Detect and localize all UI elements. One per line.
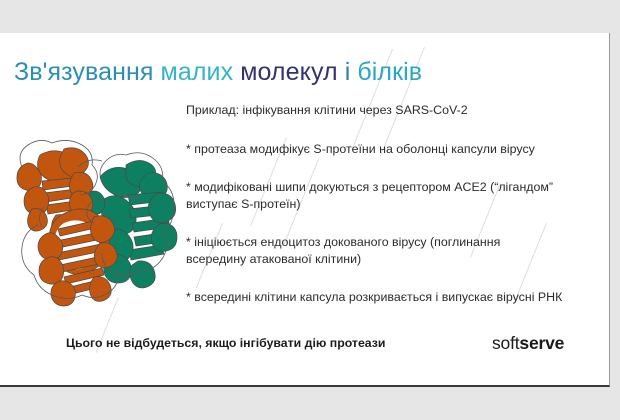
logo-text-soft: soft — [492, 333, 519, 353]
body-line: * протеаза модифікує S-протеїни на оболо… — [186, 141, 596, 158]
body-line: Приклад: інфікування клітини через SARS-… — [186, 102, 596, 119]
slide-body-text: Приклад: інфікування клітини через SARS-… — [186, 90, 596, 306]
slide-title: Зв'язуваннямалихмолекулібілків — [14, 58, 429, 87]
protein-ribbon-figure — [8, 137, 184, 307]
body-line: * модифіковані шипи докуються з рецептор… — [186, 179, 596, 212]
footer-conclusion-text: Цього не відбудеться, якщо інгібувати ді… — [66, 336, 385, 350]
softserve-logo: softserve — [492, 333, 564, 354]
title-word: молекул — [240, 58, 338, 86]
logo-text-serve: serve — [519, 333, 564, 353]
slide-canvas: Зв'язуваннямалихмолекулібілків — [0, 33, 610, 387]
title-word: і — [345, 58, 351, 86]
title-word: Зв'язування — [14, 58, 154, 86]
body-line: * всередині клітини капсула розкриваєтьс… — [186, 289, 596, 306]
body-line: * ініціюється ендоцитоз докованого вірус… — [186, 234, 596, 267]
title-word: малих — [161, 58, 234, 86]
title-word: білків — [357, 58, 422, 86]
